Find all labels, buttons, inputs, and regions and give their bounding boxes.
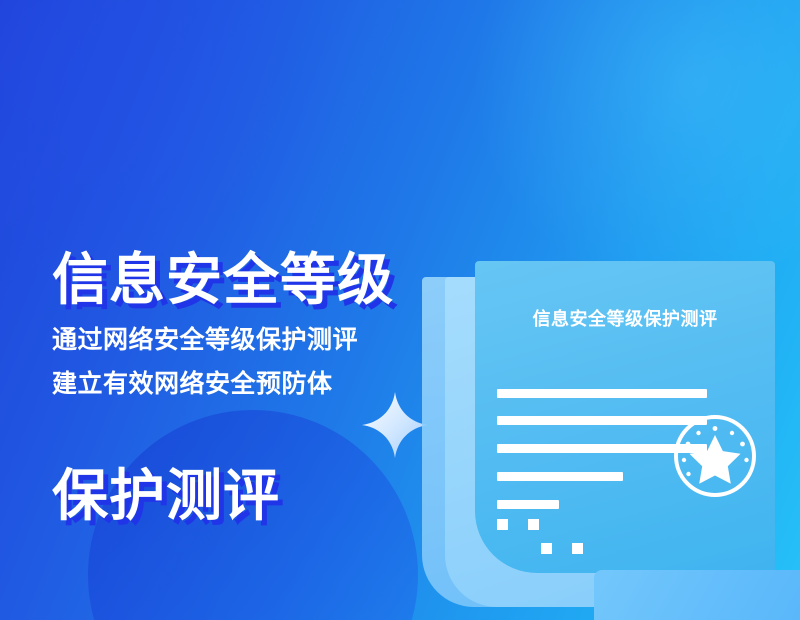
page-subtitle-line-2: 建立有效网络安全预防体 (52, 362, 358, 406)
certificate-square-mark (541, 543, 552, 554)
star-badge-icon (672, 413, 758, 499)
certificate-square-mark (528, 519, 539, 530)
page-title-line-1: 信息安全等级 (52, 244, 394, 316)
certificate-title: 信息安全等级保护测评 (475, 305, 775, 331)
certificate-illustration: 信息安全等级保护测评 (418, 255, 800, 620)
certificate-text-line (497, 472, 623, 481)
page-subtitle: 通过网络安全等级保护测评 建立有效网络安全预防体 (52, 318, 358, 406)
certificate-foot-plate (594, 570, 800, 620)
certificate-text-line (497, 500, 559, 509)
certificate-square-mark (497, 519, 508, 530)
page-title-line-2: 保护测评 (52, 460, 394, 532)
certificate-square-mark (572, 543, 583, 554)
certificate-text-line (497, 389, 707, 398)
poster-canvas: 信息安全等级 保护测评 通过网络安全等级保护测评 建立有效网络安全预防体 信息安… (0, 0, 800, 620)
background-glow-topright (460, 0, 800, 290)
certificate-card-front: 信息安全等级保护测评 (475, 261, 775, 573)
page-subtitle-line-1: 通过网络安全等级保护测评 (52, 318, 358, 362)
